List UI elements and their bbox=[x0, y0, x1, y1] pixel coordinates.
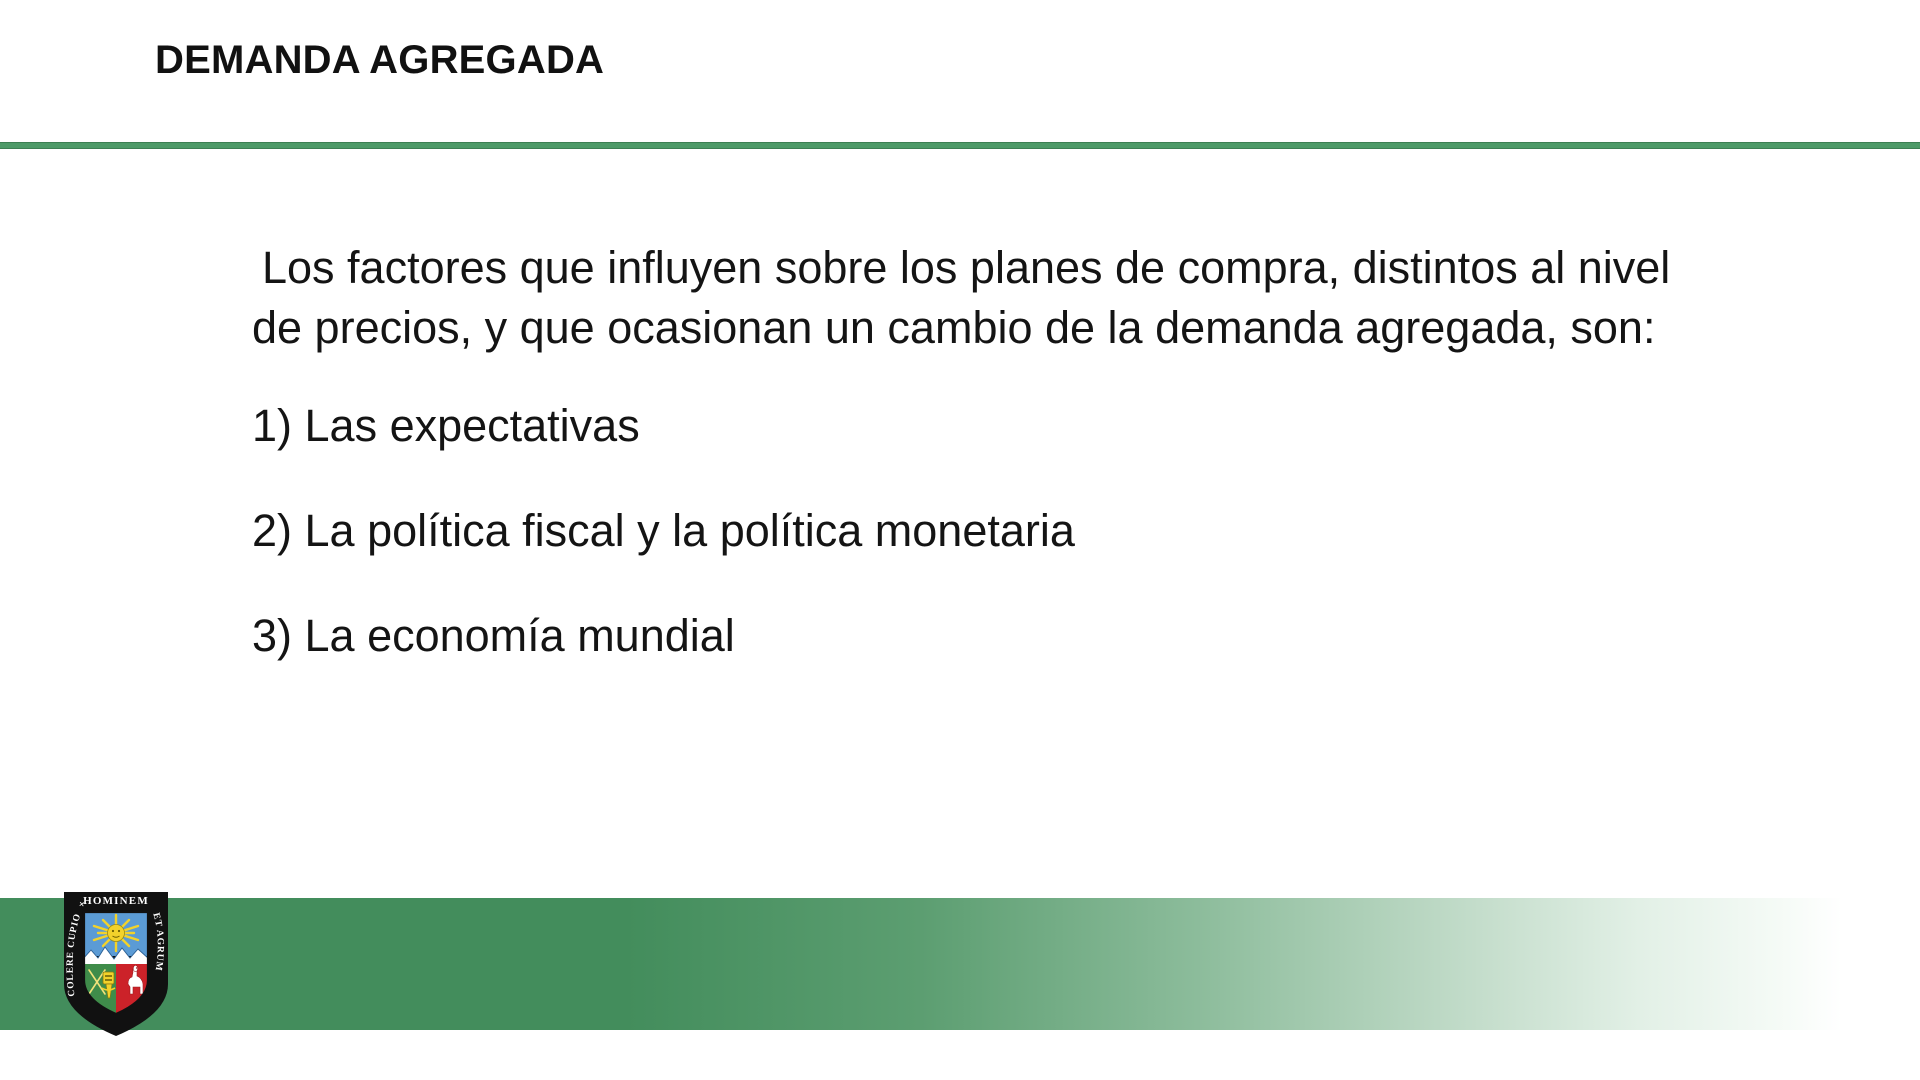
university-crest-logo: HOMINEM + COLERE CUPIO ET AGRUM bbox=[58, 888, 174, 1040]
list-item: 1) Las expectativas bbox=[252, 396, 1682, 456]
page-title: DEMANDA AGREGADA bbox=[155, 38, 604, 83]
list-item: 2) La política fiscal y la política mone… bbox=[252, 501, 1682, 561]
crest-motto-top: HOMINEM bbox=[83, 895, 149, 907]
presentation-slide: DEMANDA AGREGADA Los factores que influy… bbox=[0, 0, 1920, 1080]
title-divider-rule bbox=[0, 142, 1920, 149]
factors-list: 1) Las expectativas 2) La política fisca… bbox=[252, 396, 1682, 666]
footer-green-band bbox=[0, 898, 1842, 1030]
crest-icon: HOMINEM + COLERE CUPIO ET AGRUM bbox=[58, 888, 174, 1040]
slide-body: Los factores que influyen sobre los plan… bbox=[252, 238, 1682, 666]
lead-paragraph: Los factores que influyen sobre los plan… bbox=[252, 238, 1682, 358]
list-item: 3) La economía mundial bbox=[252, 606, 1682, 666]
